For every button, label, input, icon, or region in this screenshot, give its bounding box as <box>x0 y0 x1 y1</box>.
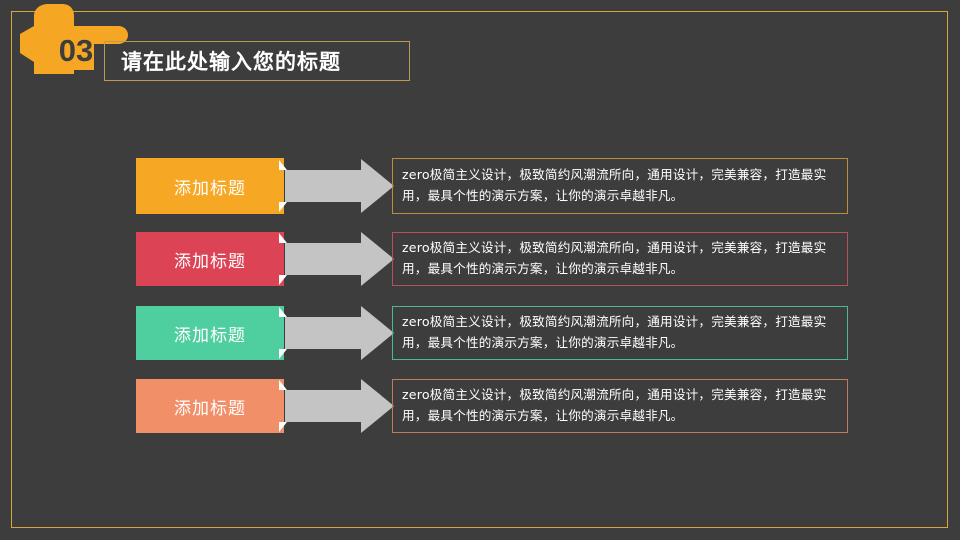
slide-canvas: 03 请在此处输入您的标题 添加标题 zero极简主义设计，极致简约风潮流所向，… <box>0 0 960 540</box>
content-row: 添加标题 zero极简主义设计，极致简约风潮流所向，通用设计，完美兼容，打造最实… <box>136 379 848 433</box>
content-row: 添加标题 zero极简主义设计，极致简约风潮流所向，通用设计，完美兼容，打造最实… <box>136 232 848 286</box>
row-label-text: 添加标题 <box>174 321 246 346</box>
page-title: 请在此处输入您的标题 <box>121 46 341 76</box>
row-label-bar[interactable]: 添加标题 <box>136 158 284 214</box>
row-description-text: zero极简主义设计，极致简约风潮流所向，通用设计，完美兼容，打造最实用，最具个… <box>402 312 838 354</box>
content-row: 添加标题 zero极简主义设计，极致简约风潮流所向，通用设计，完美兼容，打造最实… <box>136 306 848 360</box>
row-label-text: 添加标题 <box>174 174 246 199</box>
row-description-box: zero极简主义设计，极致简约风潮流所向，通用设计，完美兼容，打造最实用，最具个… <box>392 158 848 214</box>
row-description-text: zero极简主义设计，极致简约风潮流所向，通用设计，完美兼容，打造最实用，最具个… <box>402 165 838 207</box>
row-label-text: 添加标题 <box>174 247 246 272</box>
row-description-box: zero极简主义设计，极致简约风潮流所向，通用设计，完美兼容，打造最实用，最具个… <box>392 232 848 286</box>
row-label-bar[interactable]: 添加标题 <box>136 306 284 360</box>
content-row: 添加标题 zero极简主义设计，极致简约风潮流所向，通用设计，完美兼容，打造最实… <box>136 158 848 214</box>
row-description-box: zero极简主义设计，极致简约风潮流所向，通用设计，完美兼容，打造最实用，最具个… <box>392 379 848 433</box>
arrow-right-icon <box>279 306 394 360</box>
row-description-text: zero极简主义设计，极致简约风潮流所向，通用设计，完美兼容，打造最实用，最具个… <box>402 385 838 427</box>
arrow-right-icon <box>279 379 394 433</box>
row-description-box: zero极简主义设计，极致简约风潮流所向，通用设计，完美兼容，打造最实用，最具个… <box>392 306 848 360</box>
row-label-bar[interactable]: 添加标题 <box>136 232 284 286</box>
arrow-right-icon <box>279 232 394 286</box>
badge-number: 03 <box>48 33 104 69</box>
row-label-bar[interactable]: 添加标题 <box>136 379 284 433</box>
row-description-text: zero极简主义设计，极致简约风潮流所向，通用设计，完美兼容，打造最实用，最具个… <box>402 238 838 280</box>
slide-header: 03 请在此处输入您的标题 <box>0 0 960 100</box>
slide-title-box: 请在此处输入您的标题 <box>104 41 410 81</box>
row-label-text: 添加标题 <box>174 394 246 419</box>
arrow-right-icon <box>279 158 394 214</box>
